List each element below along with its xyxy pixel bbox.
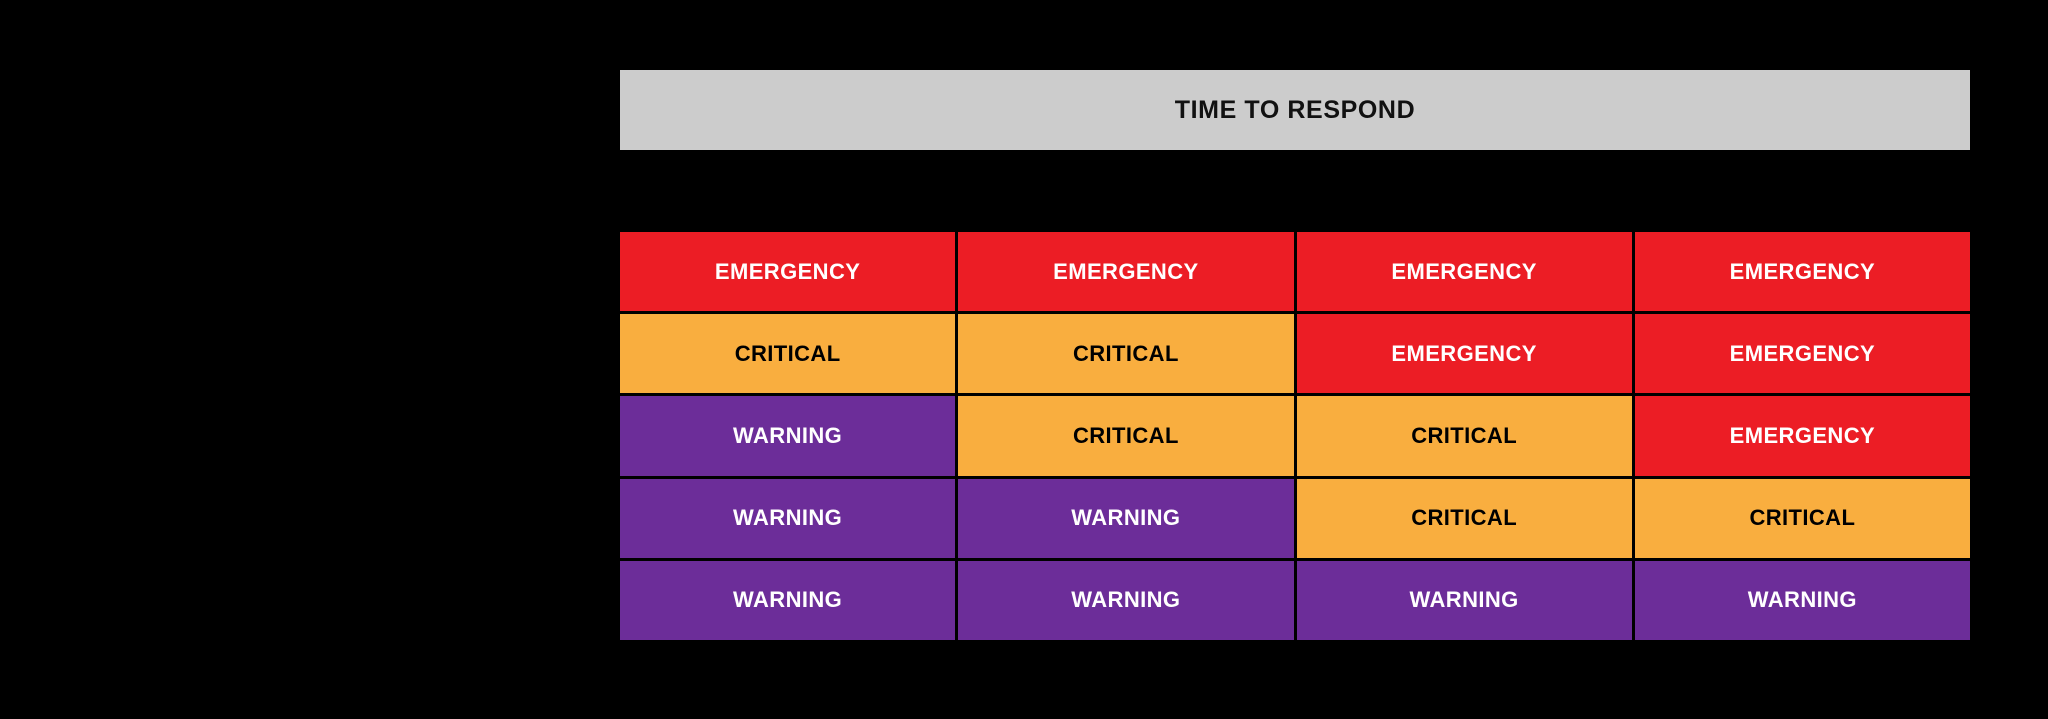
matrix-cell[interactable]: CRITICAL [620,314,955,393]
matrix-cell-label: WARNING [733,589,842,611]
matrix-cell[interactable]: CRITICAL [1297,396,1632,475]
matrix-cell-label: WARNING [733,507,842,529]
matrix-cell-label: EMERGENCY [1730,425,1875,447]
matrix-cell[interactable]: CRITICAL [958,396,1293,475]
matrix-cell[interactable]: EMERGENCY [1635,396,1970,475]
matrix-cell-label: CRITICAL [1749,507,1855,529]
matrix-cell[interactable]: WARNING [1297,561,1632,640]
matrix-cell-label: CRITICAL [1411,507,1517,529]
matrix-cell[interactable]: WARNING [620,561,955,640]
matrix-cell[interactable]: WARNING [958,561,1293,640]
matrix-cell[interactable]: CRITICAL [1635,479,1970,558]
matrix-cell-label: EMERGENCY [1730,343,1875,365]
matrix-cell[interactable]: WARNING [620,479,955,558]
matrix-cell-label: CRITICAL [1073,425,1179,447]
matrix-cell-label: WARNING [1071,589,1180,611]
matrix-canvas: TIME TO RESPOND EMERGENCYEMERGENCYEMERGE… [0,0,2048,719]
matrix-cell[interactable]: WARNING [620,396,955,475]
matrix-cell-label: EMERGENCY [1391,261,1536,283]
matrix-cell-label: WARNING [1748,589,1857,611]
header-title: TIME TO RESPOND [1175,96,1416,125]
matrix-cell[interactable]: EMERGENCY [620,232,955,311]
matrix-cell[interactable]: EMERGENCY [1297,232,1632,311]
matrix-cell[interactable]: EMERGENCY [1635,314,1970,393]
matrix-cell[interactable]: EMERGENCY [1297,314,1632,393]
matrix-cell[interactable]: EMERGENCY [958,232,1293,311]
matrix-cell-label: EMERGENCY [1391,343,1536,365]
matrix-cell-label: WARNING [733,425,842,447]
matrix-cell-label: WARNING [1410,589,1519,611]
matrix-cell-label: CRITICAL [1411,425,1517,447]
matrix-cell-label: EMERGENCY [1053,261,1198,283]
matrix-cell-label: WARNING [1071,507,1180,529]
matrix-cell[interactable]: CRITICAL [958,314,1293,393]
matrix-cell[interactable]: WARNING [1635,561,1970,640]
time-to-respond-header: TIME TO RESPOND [620,70,1970,150]
severity-matrix-grid: EMERGENCYEMERGENCYEMERGENCYEMERGENCYCRIT… [620,232,1970,640]
matrix-cell-label: CRITICAL [735,343,841,365]
matrix-cell[interactable]: WARNING [958,479,1293,558]
matrix-cell-label: EMERGENCY [1730,261,1875,283]
matrix-cell-label: CRITICAL [1073,343,1179,365]
matrix-cell-label: EMERGENCY [715,261,860,283]
matrix-cell[interactable]: EMERGENCY [1635,232,1970,311]
matrix-cell[interactable]: CRITICAL [1297,479,1632,558]
